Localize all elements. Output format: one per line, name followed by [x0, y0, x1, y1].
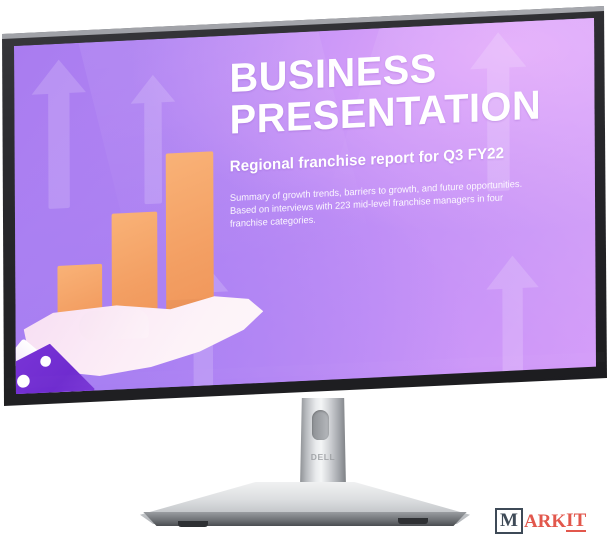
product-photo-scene: BUSINESS PRESENTATION Regional franchise…: [0, 0, 609, 550]
watermark-logo: M ARK IT: [495, 508, 586, 534]
watermark-underlined-text: IT: [566, 511, 586, 532]
dell-logo: DELL: [300, 452, 346, 466]
hand-thumb: [79, 308, 149, 341]
watermark-mid-text: ARK: [524, 512, 566, 531]
slide-title: BUSINESS PRESENTATION: [229, 40, 578, 140]
monitor-screen: BUSINESS PRESENTATION Regional franchise…: [0, 0, 609, 412]
presentation-slide: BUSINESS PRESENTATION Regional franchise…: [14, 18, 597, 395]
slide-body-text: Summary of growth trends, barriers to gr…: [230, 177, 542, 232]
stand-foot-left: [178, 521, 208, 527]
watermark-boxed-letter: M: [495, 508, 523, 534]
stand-foot-right: [398, 518, 428, 524]
hand-holding-growth-bars-illustration: [20, 68, 260, 377]
cable-management-slot: [312, 410, 329, 440]
